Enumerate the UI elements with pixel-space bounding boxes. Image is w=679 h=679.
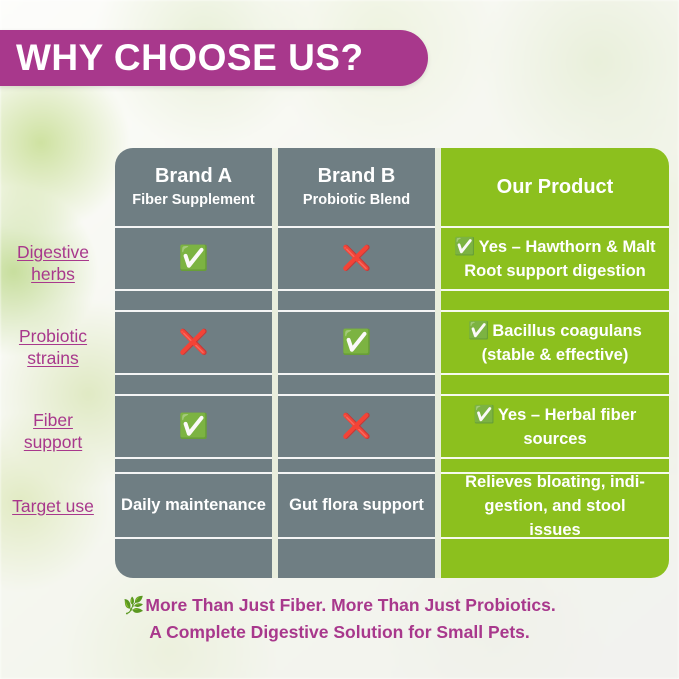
check-icon: ✅ [468, 321, 489, 340]
check-icon: ✅ [179, 247, 209, 271]
cell-our-product-fiber-support: ✅Yes – Herbal fiber sources [441, 396, 669, 457]
row-separator [115, 537, 272, 539]
cell-brand-a-probiotic-strains: ❌ [115, 312, 272, 373]
row-label-digestive-herbs: Digestive herbs [0, 241, 106, 285]
cell-brand-a-target-use: Daily maintenance [110, 474, 277, 537]
leaf-icon: 🌿 [123, 596, 144, 615]
column-title: Brand A [155, 164, 232, 188]
check-icon: ✅ [454, 237, 475, 256]
row-label-line-2: strains [0, 347, 106, 369]
cell-brand-b-probiotic-strains: ✅ [278, 312, 435, 373]
cross-icon: ❌ [342, 247, 372, 271]
title-banner: WHY CHOOSE US? [0, 30, 428, 86]
row-separator [441, 289, 669, 291]
row-label-line-2: support [0, 431, 106, 453]
cross-icon: ❌ [179, 331, 209, 355]
cell-text-line-1: Yes – Herbal fiber [498, 406, 637, 424]
row-separator [115, 373, 272, 375]
cell-brand-b-digestive-herbs: ❌ [278, 228, 435, 289]
column-header-our-product: Our Product [441, 148, 669, 226]
row-label-probiotic-strains: Probiotic strains [0, 325, 106, 369]
cross-icon: ❌ [342, 415, 372, 439]
row-label-line-1: Fiber [0, 409, 106, 431]
row-separator [115, 289, 272, 291]
cell-brand-a-digestive-herbs: ✅ [115, 228, 272, 289]
comparison-table: Brand A Fiber Supplement Brand B Probiot… [0, 148, 679, 578]
column-header-brand-b: Brand B Probiotic Blend [278, 148, 435, 226]
row-label-line-1: Probiotic [0, 325, 106, 347]
row-separator [115, 457, 272, 459]
cell-text-line-1: Yes – Hawthorn & Malt [479, 238, 656, 256]
cell-text-line-2: sources [474, 427, 637, 451]
cell-text: Gut flora support [285, 494, 428, 517]
check-icon: ✅ [342, 331, 372, 355]
cell-brand-a-fiber-support: ✅ [115, 396, 272, 457]
row-separator [278, 373, 435, 375]
cell-text: Daily maintenance [117, 494, 270, 517]
row-label-line-1: Digestive [0, 241, 106, 263]
row-label-target-use: Target use [0, 495, 106, 517]
row-label-line-2: herbs [0, 263, 106, 285]
tagline-line-1: 🌿More Than Just Fiber. More Than Just Pr… [0, 592, 679, 619]
page-title: WHY CHOOSE US? [0, 37, 364, 79]
check-icon: ✅ [179, 415, 209, 439]
row-separator [278, 289, 435, 291]
cell-our-product-digestive-herbs: ✅Yes – Hawthorn & Malt Root support dige… [441, 228, 669, 289]
row-separator [278, 457, 435, 459]
cell-text-line-2: gestion, and stool [465, 494, 645, 518]
tagline: 🌿More Than Just Fiber. More Than Just Pr… [0, 592, 679, 645]
column-subtitle: Probiotic Blend [303, 190, 410, 210]
cell-brand-b-target-use: Gut flora support [275, 474, 438, 537]
column-title: Our Product [497, 175, 614, 199]
cell-text-line-3: issues [465, 518, 645, 542]
cell-text-line-2: (stable & effective) [468, 343, 642, 367]
cell-our-product-target-use: Relieves bloating, indi- gestion, and st… [441, 474, 669, 537]
row-label-line-1: Target use [0, 495, 106, 517]
column-header-brand-a: Brand A Fiber Supplement [115, 148, 272, 226]
cell-text-line-1: Bacillus coagulans [492, 322, 641, 340]
column-title: Brand B [318, 164, 396, 188]
row-separator [441, 373, 669, 375]
cell-text-line-1: Relieves bloating, indi- [465, 470, 645, 494]
tagline-line-2: A Complete Digestive Solution for Small … [0, 619, 679, 645]
column-subtitle: Fiber Supplement [132, 190, 254, 210]
cell-our-product-probiotic-strains: ✅Bacillus coagulans (stable & effective) [441, 312, 669, 373]
tagline-text-1: More Than Just Fiber. More Than Just Pro… [145, 595, 555, 615]
cell-brand-b-fiber-support: ❌ [278, 396, 435, 457]
row-label-fiber-support: Fiber support [0, 409, 106, 453]
row-separator [278, 537, 435, 539]
check-icon: ✅ [474, 405, 495, 424]
cell-text-line-2: Root support digestion [454, 259, 655, 283]
row-separator [441, 457, 669, 459]
